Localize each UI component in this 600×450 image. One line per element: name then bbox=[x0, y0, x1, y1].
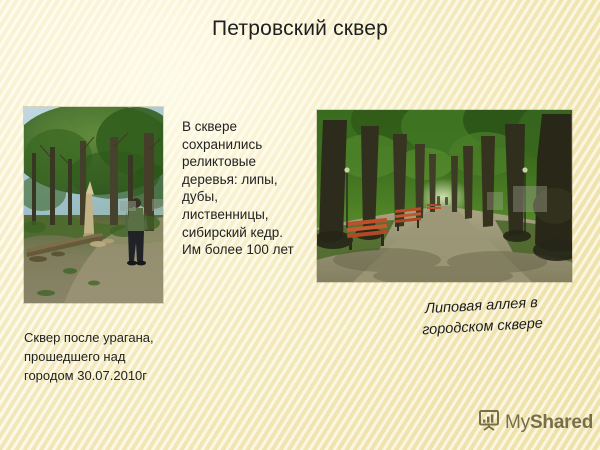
watermark-prefix: My bbox=[505, 412, 530, 433]
photo-linden-alley bbox=[317, 110, 572, 282]
caption-right-photo: Липовая аллея в городском сквере bbox=[392, 291, 572, 343]
caption-left-photo: Сквер после урагана, прошедшего над горо… bbox=[24, 328, 174, 385]
myshared-watermark: MyShared bbox=[478, 409, 593, 436]
presentation-slide: Петровский сквер bbox=[0, 0, 600, 450]
presentation-chart-icon bbox=[478, 409, 500, 436]
myshared-wordmark: MyShared bbox=[505, 412, 593, 434]
photo-right-image bbox=[317, 110, 572, 282]
center-text-block: В сквере сохранились реликтовые деревья:… bbox=[182, 118, 294, 259]
slide-title: Петровский сквер bbox=[0, 17, 600, 41]
photo-left-image bbox=[24, 107, 163, 303]
watermark-suffix: Shared bbox=[530, 412, 593, 433]
photo-park-after-hurricane bbox=[24, 107, 163, 303]
